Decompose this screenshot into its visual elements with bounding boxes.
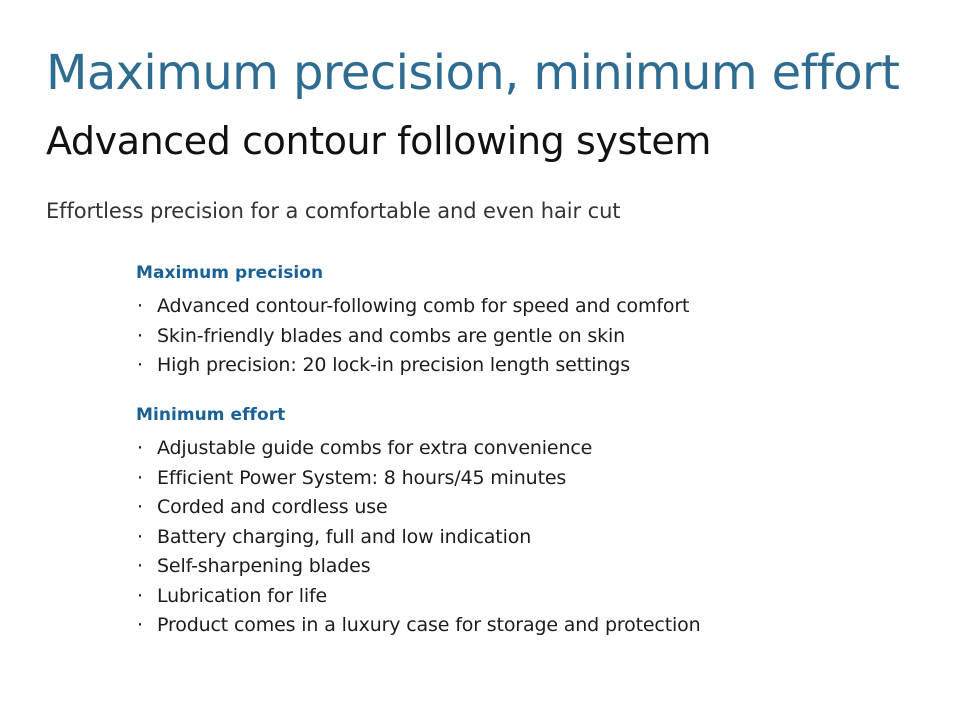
list-item: · Advanced contour-following comb for sp… xyxy=(136,292,896,322)
feature-section-maximum-precision: Maximum precision · Advanced contour-fol… xyxy=(136,263,896,381)
feature-sections: Maximum precision · Advanced contour-fol… xyxy=(136,263,896,641)
list-item: · Adjustable guide combs for extra conve… xyxy=(136,434,896,464)
list-item-label: Efficient Power System: 8 hours/45 minut… xyxy=(157,467,566,489)
bullet-dot-icon: · xyxy=(137,322,149,352)
list-item: · Self-sharpening blades xyxy=(136,552,896,582)
bullet-dot-icon: · xyxy=(137,493,149,523)
list-item-label: Corded and cordless use xyxy=(157,496,388,518)
bullet-list-minimum-effort: · Adjustable guide combs for extra conve… xyxy=(136,434,896,641)
list-item: · Corded and cordless use xyxy=(136,493,896,523)
list-item: · Lubrication for life xyxy=(136,582,896,612)
bullet-dot-icon: · xyxy=(137,351,149,381)
list-item-label: Lubrication for life xyxy=(157,585,327,607)
bullet-dot-icon: · xyxy=(137,552,149,582)
list-item-label: Battery charging, full and low indicatio… xyxy=(157,526,531,548)
bullet-dot-icon: · xyxy=(137,434,149,464)
slide-tagline: Effortless precision for a comfortable a… xyxy=(46,199,620,223)
slide-subtitle: Advanced contour following system xyxy=(46,122,711,162)
list-item: · Battery charging, full and low indicat… xyxy=(136,523,896,553)
bullet-dot-icon: · xyxy=(137,464,149,494)
list-item-label: Skin-friendly blades and combs are gentl… xyxy=(157,325,625,347)
bullet-list-maximum-precision: · Advanced contour-following comb for sp… xyxy=(136,292,896,381)
list-item-label: Adjustable guide combs for extra conveni… xyxy=(157,437,592,459)
list-item-label: Product comes in a luxury case for stora… xyxy=(157,614,701,636)
slide-canvas: Maximum precision, minimum effort Advanc… xyxy=(0,0,960,707)
section-heading-maximum-precision: Maximum precision xyxy=(136,263,896,283)
section-heading-minimum-effort: Minimum effort xyxy=(136,405,896,425)
list-item: · Product comes in a luxury case for sto… xyxy=(136,611,896,641)
bullet-dot-icon: · xyxy=(137,611,149,641)
list-item-label: Advanced contour-following comb for spee… xyxy=(157,295,689,317)
bullet-dot-icon: · xyxy=(137,292,149,322)
list-item-label: High precision: 20 lock-in precision len… xyxy=(157,354,630,376)
bullet-dot-icon: · xyxy=(137,523,149,553)
list-item: · Skin-friendly blades and combs are gen… xyxy=(136,322,896,352)
list-item: · High precision: 20 lock-in precision l… xyxy=(136,351,896,381)
feature-section-minimum-effort: Minimum effort · Adjustable guide combs … xyxy=(136,405,896,641)
list-item-label: Self-sharpening blades xyxy=(157,555,370,577)
list-item: · Efficient Power System: 8 hours/45 min… xyxy=(136,464,896,494)
bullet-dot-icon: · xyxy=(137,582,149,612)
slide-title: Maximum precision, minimum effort xyxy=(46,48,899,98)
